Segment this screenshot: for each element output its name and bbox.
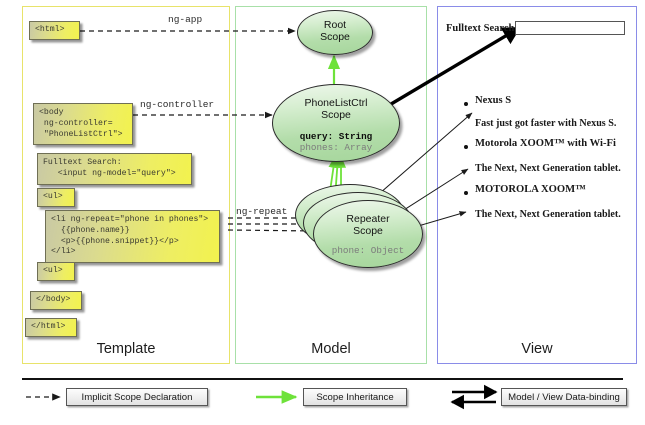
view-search-label: Fulltext Search: xyxy=(446,23,518,34)
phonelistctrl-phones-property: phones: Array xyxy=(300,142,373,154)
list-bullet xyxy=(464,102,468,106)
root-scope-title-line2: Scope xyxy=(320,31,350,43)
code-box-html-open[interactable]: <html> xyxy=(29,21,80,40)
view-item-name: Motorola XOOM™ with Wi-Fi xyxy=(475,138,616,149)
edge-label-ng-controller: ng-controller xyxy=(140,99,214,110)
view-item-snippet: The Next, Next Generation tablet. xyxy=(475,163,621,174)
code-box-ul-close[interactable]: <ul> xyxy=(37,262,75,281)
legend-model-view-databinding: Model / View Data-binding xyxy=(501,388,627,406)
phonelistctrl-query-property: query: String xyxy=(300,131,373,143)
root-scope-title-line1: Root xyxy=(324,19,346,31)
legend-scope-inheritance: Scope Inheritance xyxy=(303,388,407,406)
list-bullet xyxy=(464,145,468,149)
repeater-phone-property: phone: Object xyxy=(332,245,405,257)
edge-label-ng-repeat: ng-repeat xyxy=(236,206,287,217)
edge-label-ng-app: ng-app xyxy=(168,14,202,25)
column-template: Template xyxy=(22,6,230,364)
ellipse-root-scope[interactable]: Root Scope xyxy=(297,10,373,55)
code-box-html-close[interactable]: </html> xyxy=(25,318,77,337)
fulltext-search-input[interactable] xyxy=(515,21,625,35)
repeater-title-line2: Scope xyxy=(353,225,383,237)
diagram-canvas: Template Model View xyxy=(0,0,645,425)
code-box-li-ng-repeat[interactable]: <li ng-repeat="phone in phones"> {{phone… xyxy=(45,210,220,263)
code-box-body-ng-controller[interactable]: <body ng-controller= "PhoneListCtrl"> xyxy=(33,103,133,145)
code-box-body-close[interactable]: </body> xyxy=(30,291,82,310)
list-bullet xyxy=(464,191,468,195)
column-model-label: Model xyxy=(236,341,426,357)
phonelistctrl-title-line2: Scope xyxy=(321,109,351,121)
legend-divider xyxy=(22,378,623,380)
code-box-ul-open[interactable]: <ul> xyxy=(37,188,75,207)
code-box-fulltext-search[interactable]: Fulltext Search: <input ng-model="query"… xyxy=(37,153,192,185)
view-panel-content: Fulltext Search: Nexus S Fast just got f… xyxy=(437,6,637,364)
phonelistctrl-title-line1: PhoneListCtrl xyxy=(304,97,367,109)
view-item-snippet: Fast just got faster with Nexus S. xyxy=(475,118,616,129)
ellipse-phonelistctrl-scope[interactable]: PhoneListCtrl Scope query: String phones… xyxy=(272,84,400,162)
view-item-name: Nexus S xyxy=(475,95,511,106)
ellipse-repeater-scope[interactable]: Repeater Scope phone: Object xyxy=(313,200,423,268)
view-item-name: MOTOROLA XOOM™ xyxy=(475,184,586,195)
repeater-title-line1: Repeater xyxy=(346,213,389,225)
column-template-label: Template xyxy=(23,341,229,357)
view-item-snippet: The Next, Next Generation tablet. xyxy=(475,209,621,220)
legend-implicit-scope-declaration: Implicit Scope Declaration xyxy=(66,388,208,406)
